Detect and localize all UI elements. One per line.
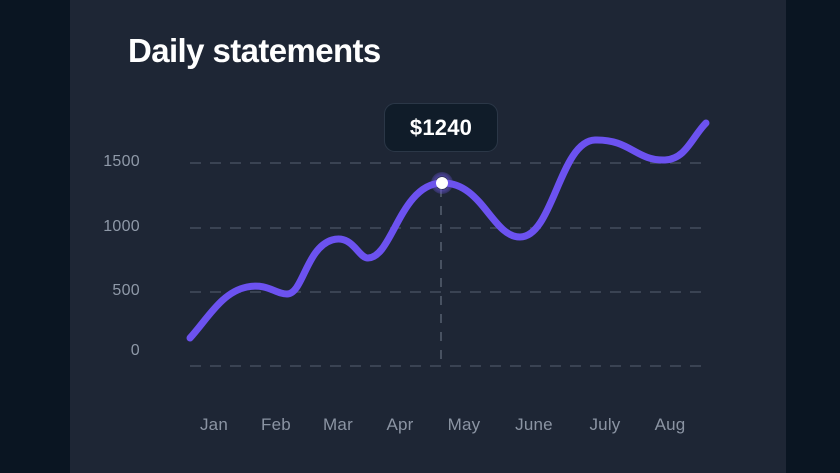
x-tick-may: May <box>434 415 494 435</box>
x-tick-july: July <box>575 415 635 435</box>
x-tick-june: June <box>504 415 564 435</box>
series-line-daily-statements <box>190 123 706 338</box>
y-tick-1000: 1000 <box>74 218 140 236</box>
tooltip-value-label: $1240 <box>410 115 472 141</box>
y-tick-1500: 1500 <box>74 153 140 171</box>
gridlines-horizontal <box>190 163 706 366</box>
page-title: Daily statements <box>128 32 381 70</box>
x-tick-apr: Apr <box>370 415 430 435</box>
x-tick-mar: Mar <box>308 415 368 435</box>
data-point-marker[interactable] <box>436 177 448 189</box>
x-tick-feb: Feb <box>246 415 306 435</box>
y-tick-0: 0 <box>74 342 140 360</box>
y-tick-500: 500 <box>74 282 140 300</box>
value-tooltip[interactable]: $1240 <box>384 103 498 152</box>
x-tick-aug: Aug <box>640 415 700 435</box>
x-tick-jan: Jan <box>184 415 244 435</box>
chart-screen: Daily statements 1500 1000 500 0 Jan Feb… <box>0 0 840 473</box>
line-chart-plot <box>70 0 786 473</box>
chart-card: Daily statements 1500 1000 500 0 Jan Feb… <box>70 0 786 473</box>
